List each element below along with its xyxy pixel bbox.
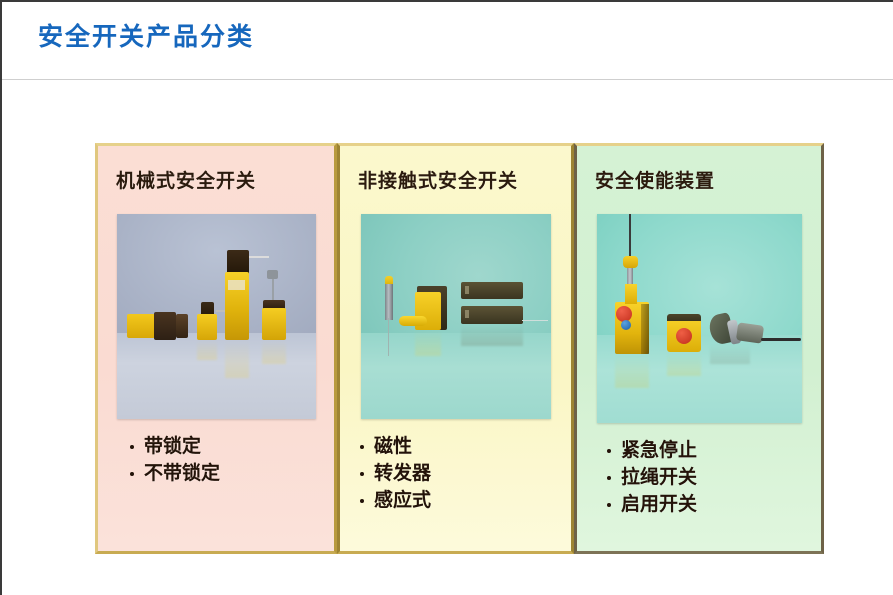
- switch-small-body: [197, 314, 217, 340]
- switch-tall-label: [228, 280, 245, 290]
- switch-flat-actuator: [154, 312, 176, 340]
- module-terminal-mark: [465, 286, 469, 294]
- page-title: 安全开关产品分类: [38, 17, 254, 53]
- bullet-item: 磁性: [360, 433, 571, 460]
- photo-reflection: [615, 354, 649, 388]
- bullet-list: 紧急停止 拉绳开关 启用开关: [607, 437, 821, 518]
- photo-reflection: [197, 340, 217, 360]
- enabling-grip-cable: [761, 338, 801, 341]
- mechanical-safety-switch-photo: [117, 214, 316, 419]
- photo-reflection: [710, 344, 750, 364]
- switch-lever-arm: [272, 276, 274, 302]
- evaluation-module-upper: [461, 282, 523, 299]
- enabling-grip-handle: [735, 322, 763, 343]
- panel-mechanical-safety-switches[interactable]: 机械式安全开关 带锁定: [95, 143, 337, 554]
- evaluation-module-lower: [461, 306, 523, 324]
- photo-reflection: [461, 324, 523, 346]
- push-button-emergency-stop: [676, 328, 692, 344]
- pendant-suspension-cable: [629, 214, 631, 258]
- transponder-actuator: [399, 316, 427, 326]
- header-divider: [2, 79, 893, 80]
- bullet-item: 感应式: [360, 487, 571, 514]
- cylindrical-sensor-cable: [388, 318, 389, 356]
- photo-reflection: [262, 340, 286, 364]
- safety-enabling-device-photo: [597, 214, 802, 423]
- bullet-list: 磁性 转发器 感应式: [360, 433, 571, 514]
- switch-flat-cap: [176, 314, 188, 338]
- category-panel-group: 机械式安全开关 带锁定: [95, 143, 824, 554]
- bullet-item: 启用开关: [607, 491, 821, 518]
- bullet-item: 不带锁定: [130, 460, 334, 487]
- switch-tall-wire: [249, 256, 269, 258]
- photo-reflection: [667, 352, 701, 376]
- switch-lever-body: [262, 308, 286, 340]
- bullet-list: 带锁定 不带锁定: [130, 433, 334, 487]
- module-terminal-mark: [465, 310, 469, 318]
- pendant-neck: [625, 284, 637, 304]
- bullet-item: 转发器: [360, 460, 571, 487]
- module-cable: [522, 320, 548, 321]
- switch-flat-body: [127, 314, 155, 338]
- pendant-side-shadow: [641, 304, 649, 354]
- non-contact-safety-switch-photo: [361, 214, 551, 419]
- bullet-item: 带锁定: [130, 433, 334, 460]
- cylindrical-sensor-body: [385, 284, 393, 320]
- panel-title: 非接触式安全开关: [358, 166, 571, 193]
- slide-header: 安全开关产品分类: [2, 2, 893, 80]
- photo-reflection: [415, 330, 441, 356]
- switch-lever-roller: [267, 270, 278, 279]
- bullet-item: 紧急停止: [607, 437, 821, 464]
- photo-reflection: [225, 340, 249, 378]
- push-button-box-top: [667, 314, 701, 321]
- pendant-cable-grip: [623, 256, 638, 268]
- pendant-blue-button: [621, 320, 631, 330]
- panel-non-contact-safety-switches[interactable]: 非接触式安全开关 磁性 转发器 感应式: [337, 143, 574, 554]
- bullet-item: 拉绳开关: [607, 464, 821, 491]
- panel-title: 安全使能装置: [595, 166, 821, 193]
- panel-safety-enabling-devices[interactable]: 安全使能装置 紧急停止: [574, 143, 824, 554]
- panel-title: 机械式安全开关: [116, 166, 334, 193]
